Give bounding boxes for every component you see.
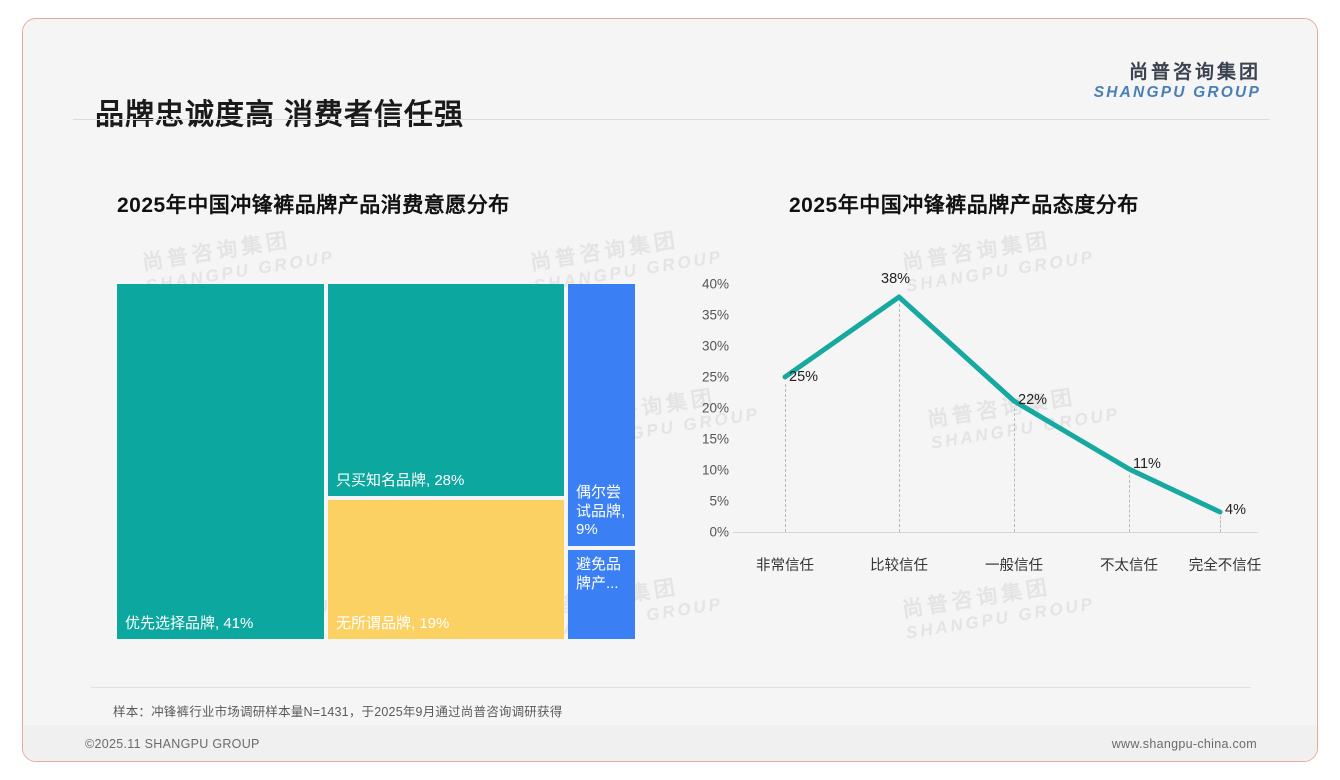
- line-chart-y-axis: 40% 35% 30% 25% 20% 15% 10% 5% 0%: [673, 279, 729, 619]
- data-label: 22%: [1018, 392, 1047, 408]
- brand-logo-cn: 尚普咨询集团: [1094, 63, 1261, 83]
- treemap-chart-title: 2025年中国冲锋裤品牌产品消费意愿分布: [117, 189, 510, 219]
- treemap-cell-label: 优先选择品牌, 41%: [125, 615, 320, 633]
- treemap-plot: 优先选择品牌, 41% 只买知名品牌, 28% 无所谓品牌, 19% 偶尔尝试品…: [117, 284, 635, 639]
- slide-canvas: 尚普咨询集团 SHANGPU GROUP 尚普咨询集团 SHANGPU GROU…: [23, 19, 1317, 761]
- data-label: 11%: [1133, 456, 1161, 472]
- y-tick: 10%: [673, 463, 729, 478]
- treemap-chart: 2025年中国冲锋裤品牌产品消费意愿分布 优先选择品牌, 41% 只买知名品牌,…: [73, 169, 663, 669]
- x-tick: 一般信任: [985, 554, 1043, 575]
- line-path: [785, 297, 1220, 512]
- footnote-divider: [91, 687, 1251, 688]
- brand-logo-en: SHANGPU GROUP: [1094, 85, 1261, 101]
- x-tick: 非常信任: [756, 554, 814, 575]
- page-title: 品牌忠诚度高 消费者信任强: [95, 91, 464, 133]
- y-tick: 20%: [673, 401, 729, 416]
- x-axis-line: [733, 532, 1258, 533]
- y-tick: 30%: [673, 339, 729, 354]
- footer-copyright: ©2025.11 SHANGPU GROUP: [85, 737, 260, 751]
- y-tick: 25%: [673, 370, 729, 385]
- y-tick: 40%: [673, 277, 729, 292]
- line-chart-title: 2025年中国冲锋裤品牌产品态度分布: [789, 189, 1139, 219]
- x-tick: 完全不信任: [1189, 554, 1262, 575]
- line-series: [733, 284, 1258, 554]
- treemap-cell[interactable]: 偶尔尝试品牌, 9%: [568, 284, 635, 546]
- slide-footer: ©2025.11 SHANGPU GROUP www.shangpu-china…: [23, 725, 1317, 762]
- footer-website[interactable]: www.shangpu-china.com: [1112, 737, 1257, 751]
- footnote: 样本：冲锋裤行业市场调研样本量N=1431，于2025年9月通过尚普咨询调研获得: [113, 701, 562, 720]
- y-tick: 0%: [673, 525, 729, 540]
- treemap-cell-label: 无所谓品牌, 19%: [336, 615, 560, 633]
- slide-frame: 尚普咨询集团 SHANGPU GROUP 尚普咨询集团 SHANGPU GROU…: [22, 18, 1318, 762]
- slide-page: 尚普咨询集团 SHANGPU GROUP 尚普咨询集团 SHANGPU GROU…: [0, 0, 1340, 780]
- y-tick: 15%: [673, 432, 729, 447]
- header-divider: [73, 119, 1269, 120]
- y-tick: 5%: [673, 494, 729, 509]
- treemap-cell[interactable]: 无所谓品牌, 19%: [328, 500, 564, 639]
- treemap-cell-label: 偶尔尝试品牌, 9%: [576, 484, 631, 540]
- data-label: 38%: [881, 271, 910, 287]
- treemap-cell[interactable]: 优先选择品牌, 41%: [117, 284, 324, 639]
- treemap-cell-label: 避免品牌产...: [576, 556, 631, 594]
- x-tick: 比较信任: [870, 554, 928, 575]
- treemap-cell-label: 只买知名品牌, 28%: [336, 472, 560, 490]
- treemap-cell[interactable]: 避免品牌产...: [568, 550, 635, 639]
- data-label: 25%: [789, 369, 818, 385]
- treemap-cell[interactable]: 只买知名品牌, 28%: [328, 284, 564, 496]
- data-label: 4%: [1225, 502, 1246, 518]
- line-chart-x-axis: 非常信任 比较信任 一般信任 不太信任 完全不信任: [733, 554, 1258, 580]
- brand-logo: 尚普咨询集团 SHANGPU GROUP: [1094, 63, 1261, 101]
- x-tick: 不太信任: [1100, 554, 1158, 575]
- slide-header: 品牌忠诚度高 消费者信任强 尚普咨询集团 SHANGPU GROUP: [23, 19, 1317, 119]
- y-tick: 35%: [673, 308, 729, 323]
- line-chart: 2025年中国冲锋裤品牌产品态度分布 40% 35% 30% 25% 20% 1…: [673, 169, 1273, 669]
